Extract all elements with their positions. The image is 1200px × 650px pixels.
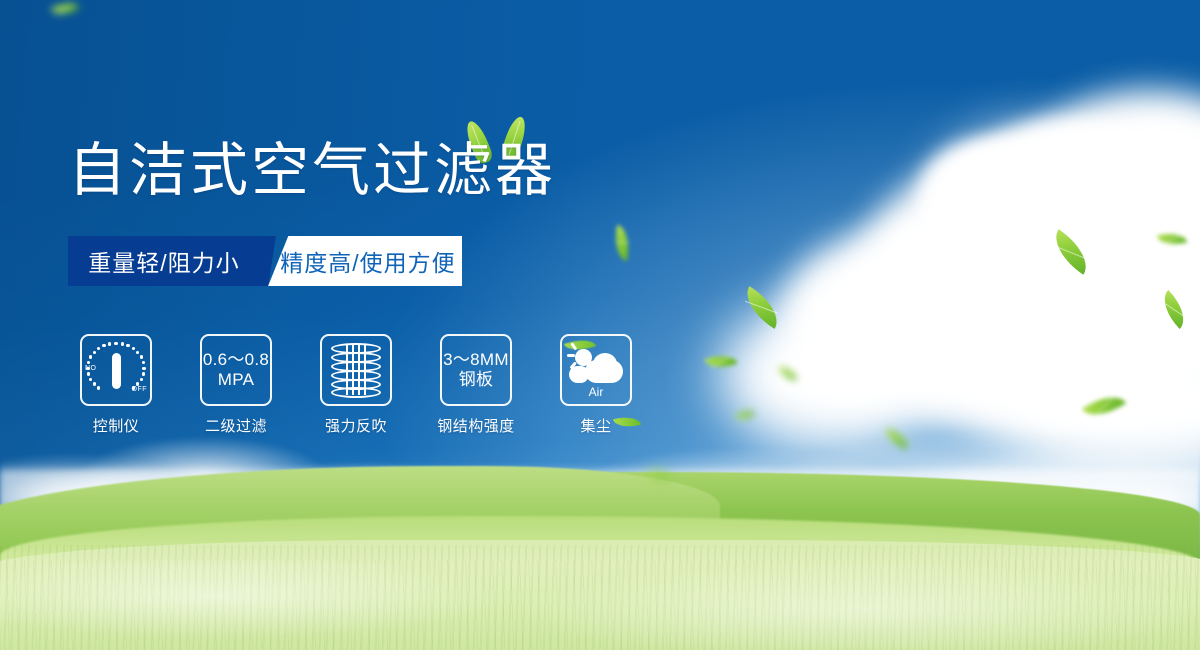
- subtitle-left-panel: 重量轻/阻力小: [68, 236, 260, 286]
- feature-label: 强力反吹: [325, 415, 387, 436]
- filter-stack-icon: [331, 343, 381, 397]
- feature-item-pressure[interactable]: 0.6～0.8 MPA 二级过滤: [188, 334, 284, 436]
- feature-label: 集尘: [580, 415, 611, 436]
- feature-item-backblow[interactable]: 强力反吹: [308, 334, 404, 436]
- grass-texture-highlight: [0, 560, 1200, 650]
- pressure-icon: 0.6～0.8 MPA: [203, 350, 269, 390]
- feature-label: 二级过滤: [205, 415, 267, 436]
- cloud-air-icon: Air: [567, 345, 625, 395]
- pressure-value: 0.6～0.8: [203, 350, 269, 370]
- subtitle-right-text: 精度高/使用方便: [266, 244, 455, 278]
- feature-icon-box: Air: [560, 334, 632, 406]
- steel-thickness: 3～8MM: [443, 350, 509, 370]
- feature-item-steel[interactable]: 3～8MM 钢板 钢结构强度: [428, 334, 524, 436]
- feature-label: 控制仪: [93, 415, 140, 436]
- gauge-icon: NO OFF: [86, 341, 146, 399]
- steel-material: 钢板: [443, 370, 509, 390]
- product-banner: 自洁式空气过滤器 精度高/使用方便 重量轻/阻力小: [0, 0, 1200, 650]
- feature-icon-box: 0.6～0.8 MPA: [200, 334, 272, 406]
- leaf-icon: [613, 413, 641, 431]
- subtitle-right-panel: 精度高/使用方便: [260, 236, 462, 286]
- feature-item-controller[interactable]: NO OFF 控制仪: [68, 334, 164, 436]
- gauge-label-no: NO: [85, 365, 97, 372]
- feature-icon-box: [320, 334, 392, 406]
- gauge-needle: [112, 353, 121, 389]
- air-label: Air: [567, 385, 625, 399]
- pressure-unit: MPA: [203, 370, 269, 390]
- cloud-body: [585, 360, 623, 383]
- gauge-label-off: OFF: [132, 386, 148, 393]
- feature-label: 钢结构强度: [437, 415, 515, 436]
- subtitle-left-text: 重量轻/阻力小: [88, 244, 239, 278]
- subtitle-bar: 精度高/使用方便 重量轻/阻力小: [68, 236, 462, 286]
- feature-list: NO OFF 控制仪 0.6～0.8 MPA 二级过滤: [68, 334, 644, 436]
- feature-icon-box: NO OFF: [80, 334, 152, 406]
- feature-item-dust[interactable]: Air 集尘: [548, 334, 644, 436]
- cumulus-cloud-top-right: [880, 60, 1200, 240]
- steel-plate-icon: 3～8MM 钢板: [443, 350, 509, 390]
- feature-icon-box: 3～8MM 钢板: [440, 334, 512, 406]
- page-title: 自洁式空气过滤器: [68, 140, 556, 202]
